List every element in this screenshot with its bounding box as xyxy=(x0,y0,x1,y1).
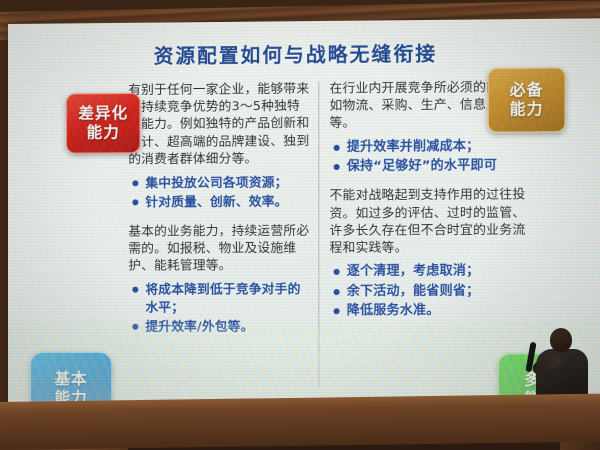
list-item-label: 集中投放公司各项资源； xyxy=(145,173,312,191)
list-item-label: 余下活动，能省则省； xyxy=(347,282,533,300)
right-bullet-list-2: 逐个清理，考虑取消； 余下活动，能省则省； 降低服务水准。 xyxy=(330,262,533,319)
left-bullet-list-2: 将成本降到低于竞争对手的水平； 提升效率/外包等。 xyxy=(128,280,312,335)
list-item: 提升效率并削减成本； xyxy=(330,137,533,156)
list-item: 降低服务水准。 xyxy=(330,302,533,320)
bullet-dot-icon xyxy=(334,269,340,275)
bullet-dot-icon xyxy=(132,324,138,330)
list-item: 保持“足够好”的水平即可 xyxy=(330,157,533,176)
list-item-label: 逐个清理，考虑取消； xyxy=(347,262,533,280)
presenter-head xyxy=(550,328,572,352)
list-item-label: 针对质量、创新、效率。 xyxy=(145,193,312,211)
list-item-label: 提升效率/外包等。 xyxy=(145,318,312,336)
bullet-dot-icon xyxy=(334,164,340,170)
badge-line-1: 差异化 xyxy=(78,104,128,123)
list-item: 提升效率/外包等。 xyxy=(128,318,312,336)
bullet-dot-icon xyxy=(334,144,340,150)
list-item: 针对质量、创新、效率。 xyxy=(128,193,312,211)
list-item: 将成本降到低于竞争对手的水平； xyxy=(128,280,312,315)
bullet-dot-icon xyxy=(334,308,340,314)
bullet-dot-icon xyxy=(132,287,138,293)
podium-surface xyxy=(0,394,600,450)
badge-differentiating-capability: 差异化 能力 xyxy=(66,93,140,154)
left-paragraph-1: 有别于任何一家企业，能够带来可持续竞争优势的3～5种独特的能力。例如独特的产品创… xyxy=(128,80,312,168)
bullet-dot-icon xyxy=(132,200,138,206)
badge-line-2: 能力 xyxy=(87,123,120,142)
right-bullet-list-1: 提升效率并削减成本； 保持“足够好”的水平即可 xyxy=(330,137,533,175)
presentation-slide: 资源配置如何与战略无缝衔接 有别于任何一家企业，能够带来可持续竞争优势的3～5种… xyxy=(8,18,600,419)
right-paragraph-2: 不能对战略起到支持作用的过往投资。如过多的评估、过时的监管、许多长久存在但不合时… xyxy=(330,186,533,256)
badge-line-1: 必备 xyxy=(510,81,544,101)
slide-title: 资源配置如何与战略无缝衔接 xyxy=(68,35,524,69)
list-item: 集中投放公司各项资源； xyxy=(128,173,312,192)
bullet-dot-icon xyxy=(334,289,340,295)
list-item: 余下活动，能省则省； xyxy=(330,282,533,300)
list-item-label: 保持“足够好”的水平即可 xyxy=(347,157,533,176)
list-item-label: 降低服务水准。 xyxy=(347,302,533,320)
left-bullet-list-1: 集中投放公司各项资源； 针对质量、创新、效率。 xyxy=(128,173,312,211)
conference-room-photo: 资源配置如何与战略无缝衔接 有别于任何一家企业，能够带来可持续竞争优势的3～5种… xyxy=(0,0,600,450)
left-paragraph-2: 基本的业务能力，持续运营所必需的。如报税、物业及设施维护、能耗管理等。 xyxy=(128,221,312,274)
badge-line-2: 能力 xyxy=(510,100,544,119)
left-column: 有别于任何一家企业，能够带来可持续竞争优势的3～5种独特的能力。例如独特的产品创… xyxy=(120,79,318,402)
badge-essential-capability: 必备 能力 xyxy=(488,67,566,132)
badge-line-1: 基本 xyxy=(55,370,88,389)
list-item: 逐个清理，考虑取消； xyxy=(330,262,533,280)
projection-screen: 资源配置如何与战略无缝衔接 有别于任何一家企业，能够带来可持续竞争优势的3～5种… xyxy=(8,18,600,419)
content-columns: 有别于任何一家企业，能够带来可持续竞争优势的3～5种独特的能力。例如独特的产品创… xyxy=(120,78,537,402)
list-item-label: 将成本降到低于竞争对手的水平； xyxy=(145,280,312,315)
slide-title-text: 资源配置如何与战略无缝衔接 xyxy=(154,37,438,69)
bullet-dot-icon xyxy=(132,180,138,186)
list-item-label: 提升效率并削减成本； xyxy=(347,137,533,156)
